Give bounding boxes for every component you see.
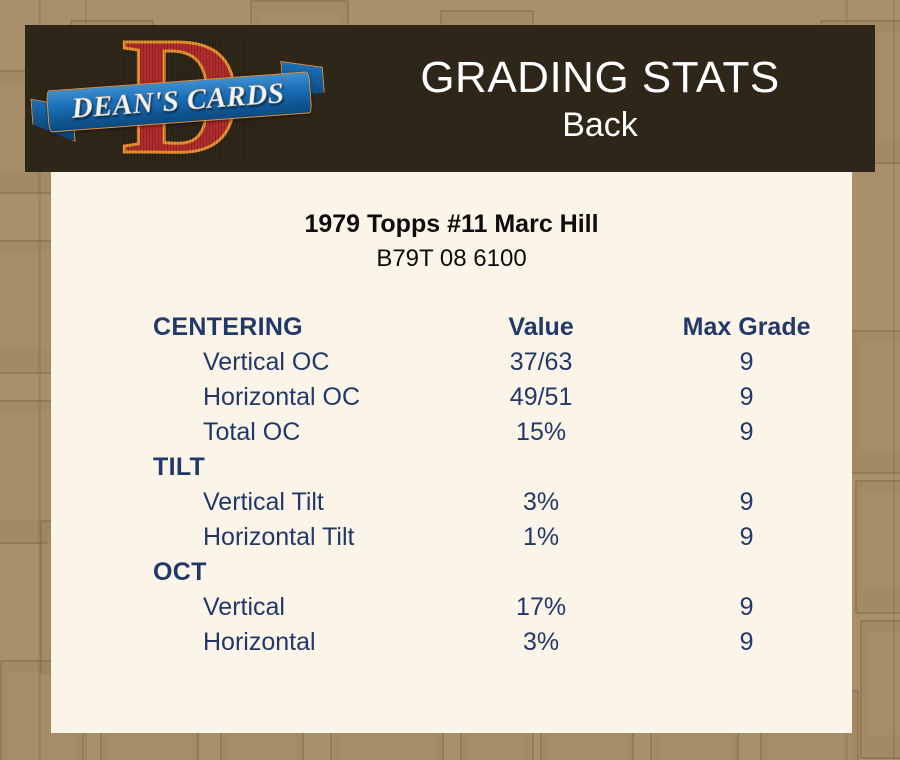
table-row: Vertical17%9 [51, 590, 852, 625]
table-row: Horizontal Tilt1%9 [51, 520, 852, 555]
table-section-row: OCT [51, 555, 852, 590]
stat-label: Vertical Tilt [51, 485, 441, 520]
stat-label: Vertical [51, 590, 441, 625]
stat-value: 49/51 [441, 380, 641, 415]
table-row: Total OC15%9 [51, 415, 852, 450]
header-titles: GRADING STATS Back [325, 25, 875, 172]
column-header-max-grade: Max Grade [641, 310, 852, 345]
stat-value: 1% [441, 520, 641, 555]
stat-max-grade: 9 [641, 415, 852, 450]
stat-max-grade: 9 [641, 345, 852, 380]
table-section-row: CENTERINGValueMax Grade [51, 310, 852, 345]
logo-ribbon: DEAN'S CARDS [45, 65, 310, 136]
section-heading: OCT [51, 555, 441, 590]
stat-value: 37/63 [441, 345, 641, 380]
stat-max-grade: 9 [641, 590, 852, 625]
deans-cards-logo[interactable]: D DEAN'S CARDS [45, 27, 315, 172]
stat-label: Vertical OC [51, 345, 441, 380]
card-title: 1979 Topps #11 Marc Hill [51, 208, 852, 240]
table-row: Vertical Tilt3%9 [51, 485, 852, 520]
stat-value: 15% [441, 415, 641, 450]
card-code: B79T 08 6100 [51, 244, 852, 274]
header-bar: D DEAN'S CARDS GRADING STATS Back [25, 25, 875, 172]
stat-label: Horizontal Tilt [51, 520, 441, 555]
stat-value: 3% [441, 485, 641, 520]
content-panel: 1979 Topps #11 Marc Hill B79T 08 6100 CE… [51, 172, 852, 733]
stat-max-grade: 9 [641, 520, 852, 555]
page-subtitle: Back [562, 104, 638, 146]
stat-value: 3% [441, 625, 641, 660]
stat-max-grade: 9 [641, 625, 852, 660]
page-title: GRADING STATS [420, 52, 779, 104]
stat-label: Horizontal OC [51, 380, 441, 415]
stat-max-grade: 9 [641, 380, 852, 415]
column-header-value: Value [441, 310, 641, 345]
grading-stats-table: CENTERINGValueMax GradeVertical OC37/639… [51, 310, 852, 660]
table-row: Horizontal3%9 [51, 625, 852, 660]
stat-max-grade: 9 [641, 485, 852, 520]
grading-stats-body: CENTERINGValueMax GradeVertical OC37/639… [51, 310, 852, 660]
background-seam-line [893, 0, 895, 760]
table-section-row: TILT [51, 450, 852, 485]
table-row: Vertical OC37/639 [51, 345, 852, 380]
stat-label: Horizontal [51, 625, 441, 660]
table-row: Horizontal OC49/519 [51, 380, 852, 415]
stat-label: Total OC [51, 415, 441, 450]
section-heading: TILT [51, 450, 441, 485]
section-heading: CENTERING [51, 310, 441, 345]
stat-value: 17% [441, 590, 641, 625]
